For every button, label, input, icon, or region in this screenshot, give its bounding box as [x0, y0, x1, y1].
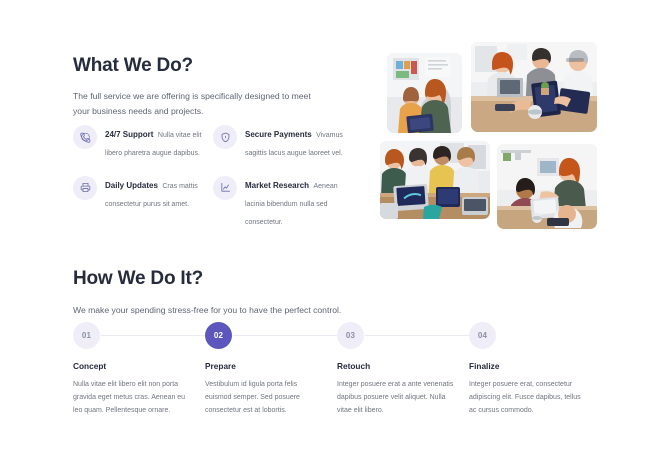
how-we-do-it-section: How We Do It? We make your spending stre…: [0, 258, 670, 450]
step-item-retouch[interactable]: 03 Retouch Integer posuere erat a ante v…: [337, 322, 469, 418]
two-women-with-tablet-in-office: [387, 53, 462, 133]
step-item-finalize[interactable]: 04 Finalize Integer posuere erat, consec…: [469, 322, 601, 418]
step-title: Retouch: [337, 362, 458, 372]
printer-icon: [73, 176, 97, 200]
chart-line-icon: [213, 176, 237, 200]
step-description: Integer posuere erat, consectetur adipis…: [469, 379, 590, 418]
collage-photo-1: [387, 53, 462, 133]
step-title: Concept: [73, 362, 194, 372]
step-connector-line: [233, 335, 342, 336]
step-description: Vestibulum id ligula porta felis euismod…: [205, 379, 326, 418]
feature-text: Daily Updates Cras mattis consectetur pu…: [105, 175, 213, 212]
collage-photo-4: [497, 144, 597, 229]
feature-text: 24/7 Support Nulla vitae elit libero pha…: [105, 124, 213, 161]
feature-title: Daily Updates: [105, 181, 158, 190]
page-title: What We Do?: [73, 55, 363, 78]
feature-text: Secure Payments Vivamus sagittis lacus a…: [245, 124, 353, 161]
coworkers-collaborating-with-laptops: [380, 141, 490, 219]
feature-item-market-research[interactable]: Market Research Aenean lacinia bibendum …: [213, 175, 353, 230]
steps-list: 01 Concept Nulla vitae elit libero elit …: [73, 322, 601, 418]
step-number-badge: 04: [469, 322, 496, 349]
step-number-badge: 01: [73, 322, 100, 349]
collage-photo-2: [471, 42, 597, 132]
how-we-do-it-subheading: We make your spending stress-free for yo…: [73, 303, 593, 318]
feature-text: Market Research Aenean lacinia bibendum …: [245, 175, 353, 230]
feature-item-daily-updates[interactable]: Daily Updates Cras mattis consectetur pu…: [73, 175, 213, 230]
step-item-prepare[interactable]: 02 Prepare Vestibulum id ligula porta fe…: [205, 322, 337, 418]
how-we-do-it-header: How We Do It? We make your spending stre…: [73, 268, 593, 317]
support-phone-icon: [73, 125, 97, 149]
shield-icon: [213, 125, 237, 149]
what-we-do-section: What We Do? The full service we are offe…: [0, 0, 670, 245]
step-number-badge: 02: [205, 322, 232, 349]
section-title: How We Do It?: [73, 268, 593, 291]
feature-title: Secure Payments: [245, 130, 312, 139]
feature-title: 24/7 Support: [105, 130, 153, 139]
feature-list: 24/7 Support Nulla vitae elit libero pha…: [73, 124, 363, 229]
step-item-concept[interactable]: 01 Concept Nulla vitae elit libero elit …: [73, 322, 205, 418]
feature-title: Market Research: [245, 181, 309, 190]
step-description: Nulla vitae elit libero elit non porta g…: [73, 379, 194, 418]
step-number-badge: 03: [337, 322, 364, 349]
feature-item-secure-payments[interactable]: Secure Payments Vivamus sagittis lacus a…: [213, 124, 353, 161]
feature-item-support[interactable]: 24/7 Support Nulla vitae elit libero pha…: [73, 124, 213, 161]
what-we-do-text-column: What We Do? The full service we are offe…: [73, 55, 363, 119]
colleagues-discussing-at-desk: [497, 144, 597, 229]
step-title: Finalize: [469, 362, 590, 372]
landing-page: What We Do? The full service we are offe…: [0, 0, 670, 450]
step-description: Integer posuere erat a ante venenatis da…: [337, 379, 458, 418]
collage-photo-3: [380, 141, 490, 219]
step-connector-line: [101, 335, 210, 336]
image-collage: [380, 30, 620, 225]
step-connector-line: [365, 335, 474, 336]
what-we-do-subheading: The full service we are offering is spec…: [73, 89, 318, 119]
team-meeting-around-table-with-tablet: [471, 42, 597, 132]
step-title: Prepare: [205, 362, 326, 372]
